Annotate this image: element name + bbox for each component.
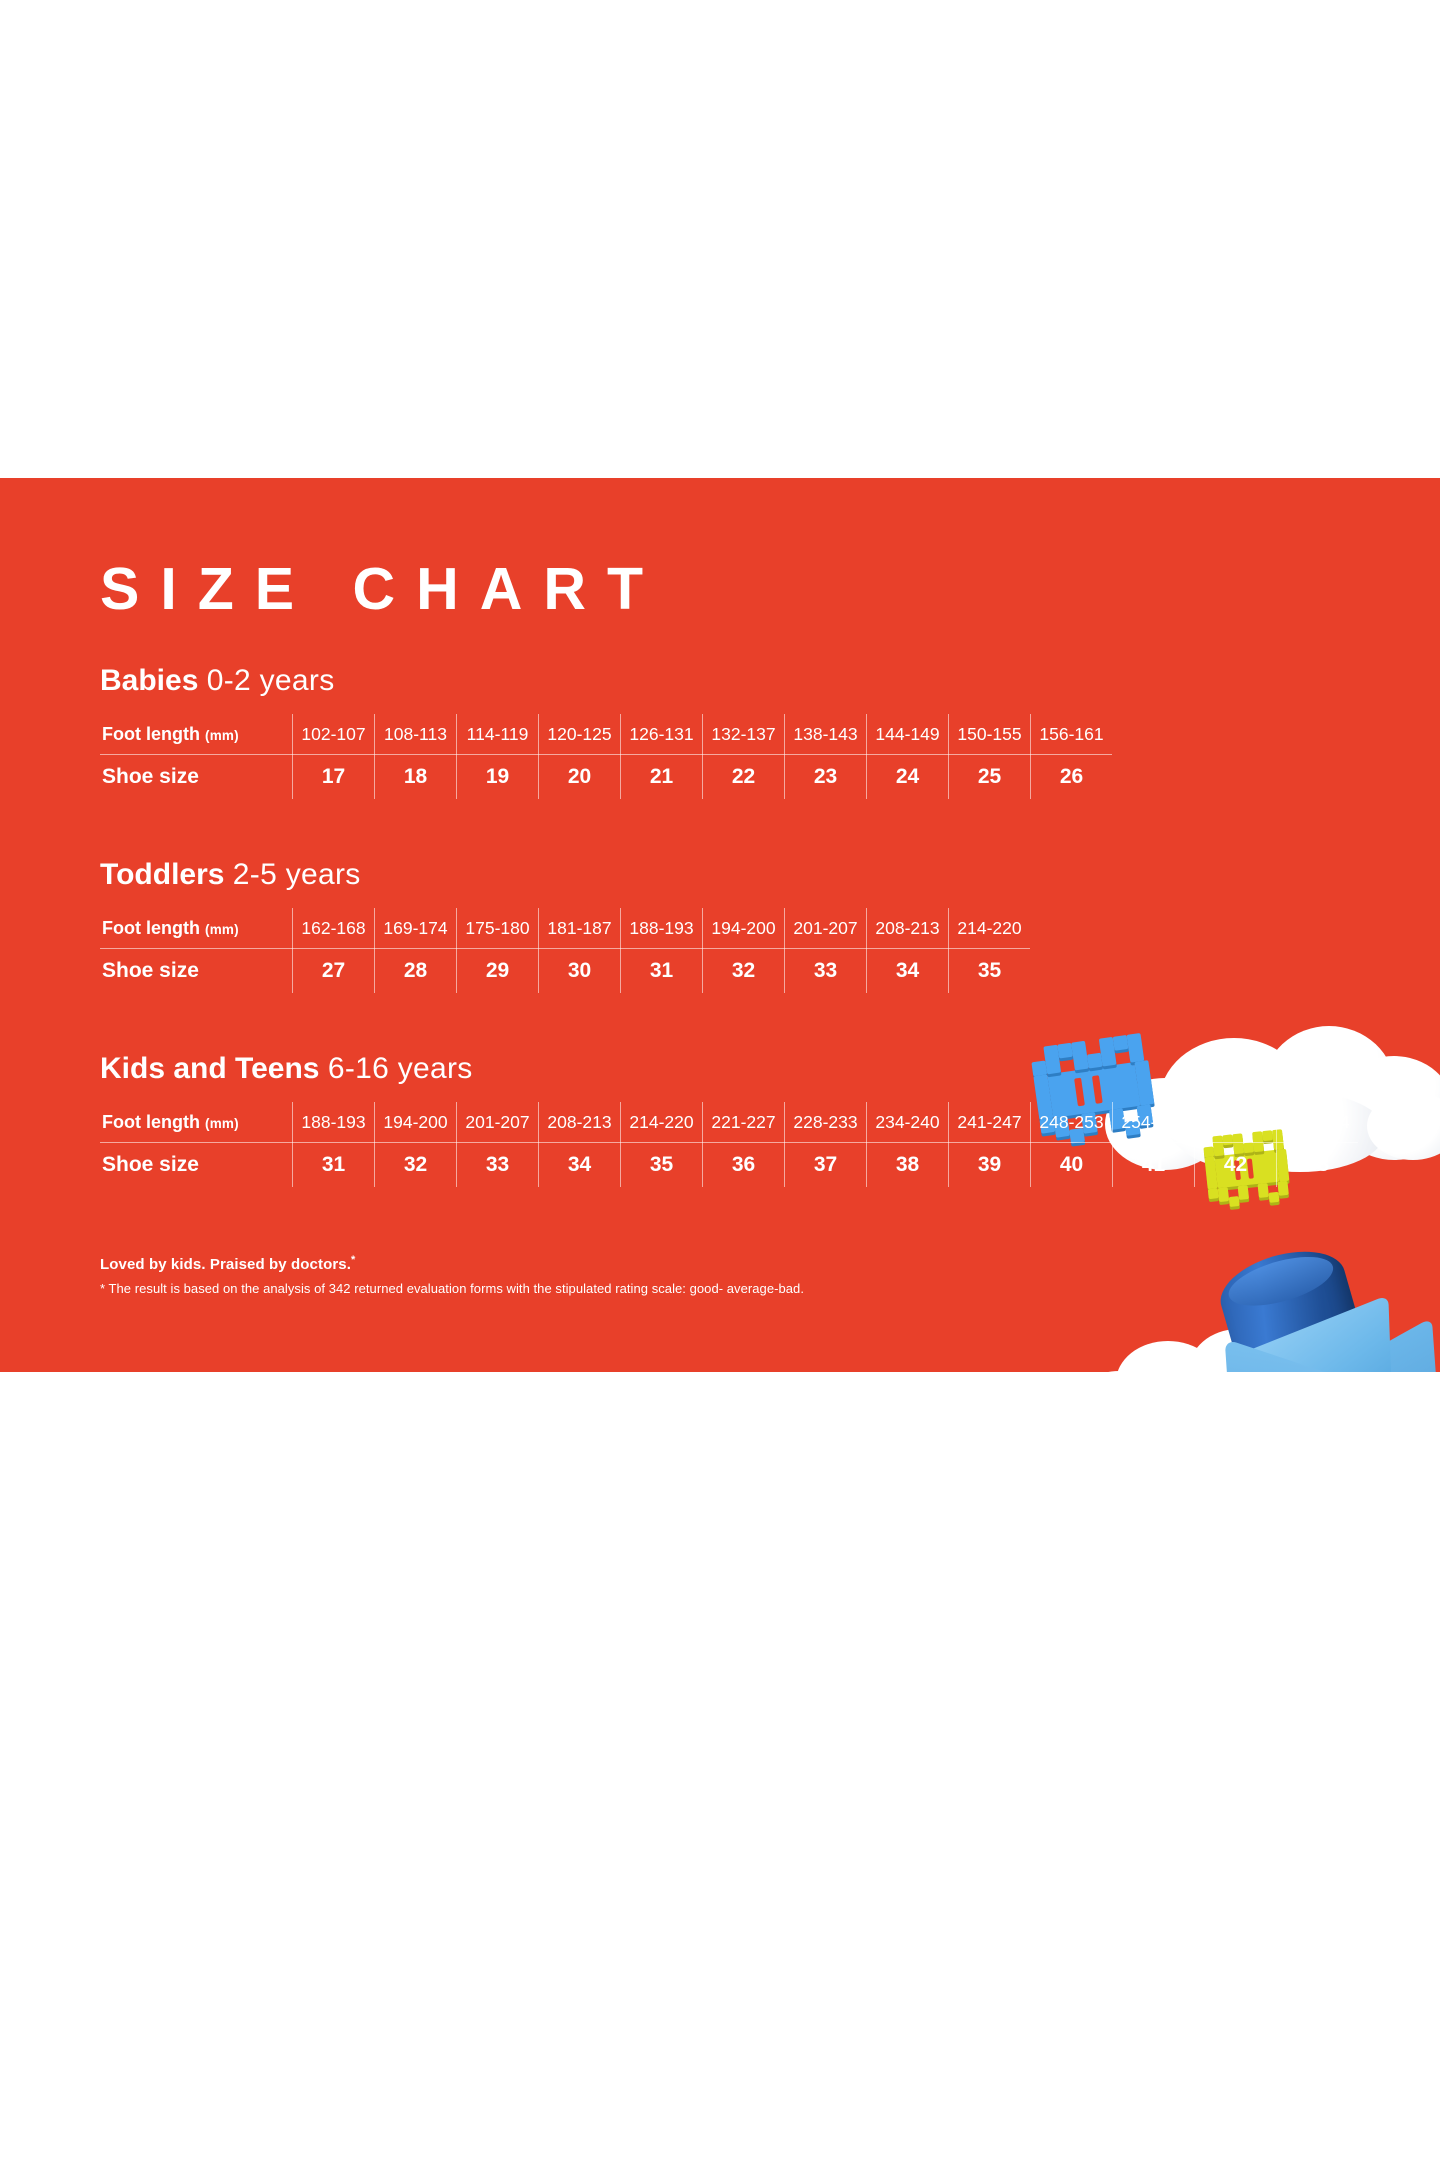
cell-foot-length: 138-143 [785,714,867,755]
footer-note: * The result is based on the analysis of… [100,1281,804,1297]
footer-claim: Loved by kids. Praised by doctors.* [100,1254,804,1274]
table-row-shoe-size: Shoe size 17 18 19 20 21 22 23 24 25 26 [100,755,1112,800]
cell-shoe-size: 25 [949,755,1031,800]
cell-foot-length: 214-220 [949,908,1031,949]
row-label-shoe-size: Shoe size [100,1143,293,1188]
section-name: Toddlers [100,858,224,891]
cell-foot-length: 150-155 [949,714,1031,755]
cell-foot-length: 234-240 [867,1102,949,1143]
cell-foot-length: 261-267 [1195,1102,1277,1143]
cell-foot-length: 241-247 [949,1102,1031,1143]
cell-shoe-size: 23 [785,755,867,800]
size-table-kids-and-teens: Foot length (mm) 188-193 194-200 201-207… [100,1102,1358,1187]
row-label-shoe-size: Shoe size [100,755,293,800]
cell-foot-length: 181-187 [539,908,621,949]
cell-foot-length: 201-207 [457,1102,539,1143]
section-heading-babies: Babies 0-2 years [100,666,1112,696]
cell-foot-length: 126-131 [621,714,703,755]
row-label-foot-length: Foot length (mm) [100,714,293,755]
cell-shoe-size: 40 [1031,1143,1113,1188]
section-name: Babies [100,664,198,697]
cell-foot-length: 114-119 [457,714,539,755]
cell-shoe-size: 19 [457,755,539,800]
cell-shoe-size: 38 [867,1143,949,1188]
row-label-shoe-size: Shoe size [100,949,293,994]
cell-shoe-size: 34 [867,949,949,994]
cell-foot-length: 120-125 [539,714,621,755]
section-age: 2-5 years [233,858,361,891]
cell-shoe-size: 41 [1113,1143,1195,1188]
cell-shoe-size: 26 [1031,755,1113,800]
cell-shoe-size: 33 [785,949,867,994]
cell-shoe-size: 27 [293,949,375,994]
cell-shoe-size: 17 [293,755,375,800]
cell-shoe-size: 34 [539,1143,621,1188]
cell-foot-length: 194-200 [375,1102,457,1143]
cell-foot-length: 162-168 [293,908,375,949]
cell-shoe-size: 39 [949,1143,1031,1188]
cell-shoe-size: 37 [785,1143,867,1188]
section-heading-kids-and-teens: Kids and Teens 6-16 years [100,1054,1358,1084]
table-row-foot-length: Foot length (mm) 102-107 108-113 114-119… [100,714,1112,755]
cell-foot-length: 228-233 [785,1102,867,1143]
row-label-unit: (mm) [205,1116,239,1131]
cell-foot-length: 108-113 [375,714,457,755]
cell-foot-length: 188-193 [621,908,703,949]
cell-foot-length: 144-149 [867,714,949,755]
cell-shoe-size: 18 [375,755,457,800]
cell-foot-length: 268-274 [1277,1102,1359,1143]
row-label-text: Foot length [102,918,200,938]
cell-shoe-size: 24 [867,755,949,800]
cell-shoe-size: 29 [457,949,539,994]
row-label-foot-length: Foot length (mm) [100,1102,293,1143]
section-age: 6-16 years [328,1052,473,1085]
row-label-text: Foot length [102,724,200,744]
cell-shoe-size: 36 [703,1143,785,1188]
table-row-shoe-size: Shoe size 31 32 33 34 35 36 37 38 39 40 … [100,1143,1358,1188]
cell-shoe-size: 21 [621,755,703,800]
footer: Loved by kids. Praised by doctors.* * Th… [100,1254,804,1297]
section-name: Kids and Teens [100,1052,320,1085]
table-row-shoe-size: Shoe size 27 28 29 30 31 32 33 34 35 [100,949,1030,994]
cell-shoe-size: 35 [949,949,1031,994]
row-label-text: Foot length [102,1112,200,1132]
cell-shoe-size: 32 [703,949,785,994]
section-heading-toddlers: Toddlers 2-5 years [100,860,1030,890]
section-kids-and-teens: Kids and Teens 6-16 years Foot length (m… [100,1054,1358,1187]
section-toddlers: Toddlers 2-5 years Foot length (mm) 162-… [100,860,1030,993]
cell-shoe-size: 32 [375,1143,457,1188]
cell-foot-length: 208-213 [867,908,949,949]
cell-shoe-size: 20 [539,755,621,800]
cell-foot-length: 254-260 [1113,1102,1195,1143]
cell-shoe-size: 43 [1277,1143,1359,1188]
cell-shoe-size: 33 [457,1143,539,1188]
cell-foot-length: 169-174 [375,908,457,949]
cell-foot-length: 188-193 [293,1102,375,1143]
cell-shoe-size: 22 [703,755,785,800]
size-chart-panel: SIZE CHART Babies 0-2 years Foot length … [0,478,1440,1372]
cell-foot-length: 132-137 [703,714,785,755]
footer-claim-text: Loved by kids. Praised by doctors. [100,1256,351,1273]
cell-foot-length: 248-253 [1031,1102,1113,1143]
size-table-toddlers: Foot length (mm) 162-168 169-174 175-180… [100,908,1030,993]
size-chart-page: SIZE CHART Babies 0-2 years Foot length … [0,0,1440,2160]
cell-shoe-size: 35 [621,1143,703,1188]
cell-foot-length: 221-227 [703,1102,785,1143]
cell-shoe-size: 31 [293,1143,375,1188]
cell-foot-length: 194-200 [703,908,785,949]
row-label-unit: (mm) [205,728,239,743]
cell-foot-length: 102-107 [293,714,375,755]
cell-foot-length: 201-207 [785,908,867,949]
cell-shoe-size: 31 [621,949,703,994]
cell-foot-length: 156-161 [1031,714,1113,755]
cell-foot-length: 175-180 [457,908,539,949]
row-label-foot-length: Foot length (mm) [100,908,293,949]
cell-shoe-size: 28 [375,949,457,994]
cell-foot-length: 214-220 [621,1102,703,1143]
page-title: SIZE CHART [100,560,664,619]
cell-shoe-size: 30 [539,949,621,994]
size-table-babies: Foot length (mm) 102-107 108-113 114-119… [100,714,1112,799]
section-babies: Babies 0-2 years Foot length (mm) 102-10… [100,666,1112,799]
table-row-foot-length: Foot length (mm) 162-168 169-174 175-180… [100,908,1030,949]
row-label-unit: (mm) [205,922,239,937]
cell-foot-length: 208-213 [539,1102,621,1143]
table-row-foot-length: Foot length (mm) 188-193 194-200 201-207… [100,1102,1358,1143]
cell-shoe-size: 42 [1195,1143,1277,1188]
footer-claim-marker: * [351,1254,355,1266]
section-age: 0-2 years [207,664,335,697]
